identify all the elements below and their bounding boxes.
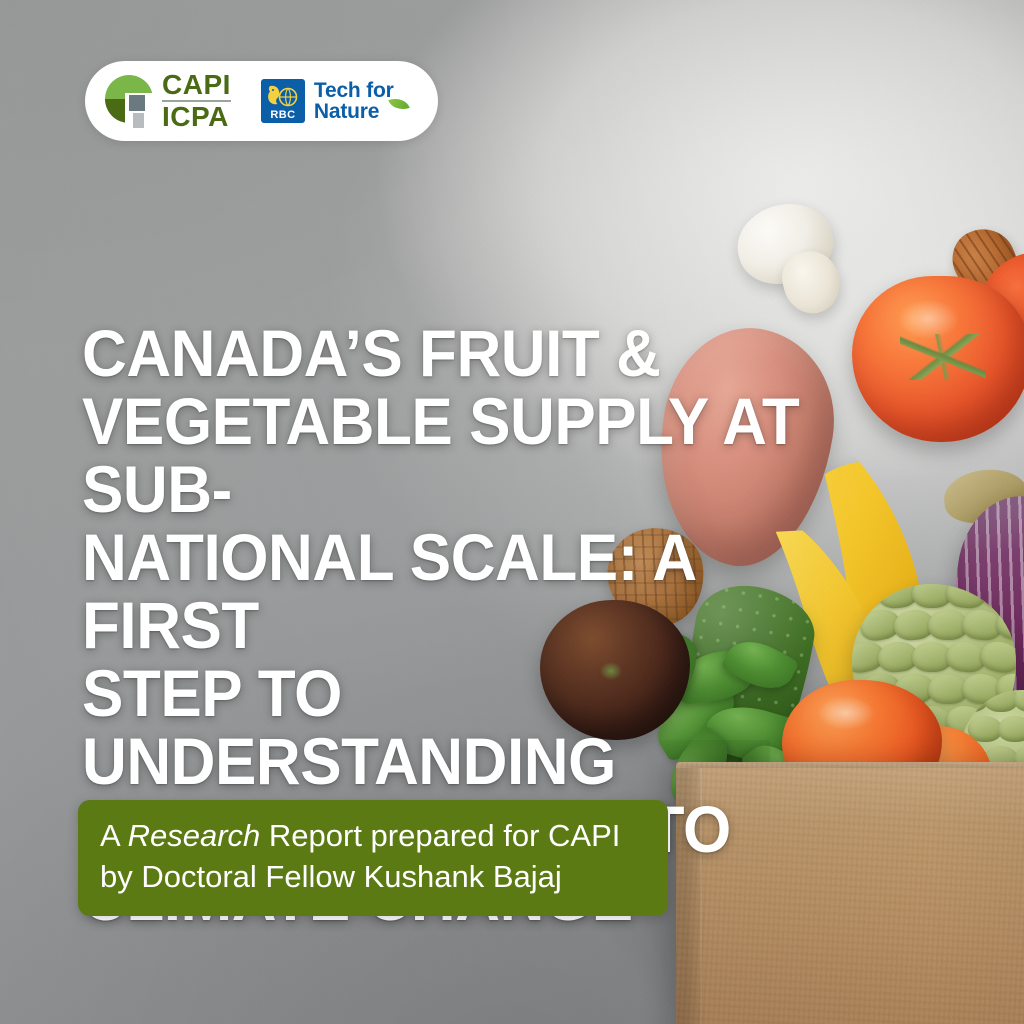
capi-line-2: ICPA xyxy=(162,104,231,130)
report-cover-poster: CAPI ICPA RBC Tech for Nature xyxy=(0,0,1024,1024)
capi-line-1: CAPI xyxy=(162,72,231,98)
capi-wordmark: CAPI ICPA xyxy=(162,72,231,130)
subtitle-line-1: A Research Report prepared for CAPI xyxy=(100,816,646,857)
subtitle-line-2: by Doctoral Fellow Kushank Bajaj xyxy=(100,857,646,898)
subtitle-italic-word: Research xyxy=(128,818,261,853)
rbc-tech-for-nature-logo[interactable]: RBC Tech for Nature xyxy=(261,79,394,123)
subtitle-prefix: A xyxy=(100,818,128,853)
nature-line: Nature xyxy=(314,101,394,122)
tech-for-line: Tech for xyxy=(314,80,394,101)
rbc-badge: RBC xyxy=(261,79,305,123)
capi-logo[interactable]: CAPI ICPA xyxy=(103,72,231,130)
subtitle-banner: A Research Report prepared for CAPI by D… xyxy=(78,800,668,916)
rbc-wordmark: RBC xyxy=(270,110,295,121)
tech-for-nature-wordmark: Tech for Nature xyxy=(314,80,394,122)
capi-circle-mark xyxy=(103,73,155,129)
subtitle-suffix: Report prepared for CAPI xyxy=(260,818,620,853)
logo-bar: CAPI ICPA RBC Tech for Nature xyxy=(85,61,438,141)
rbc-lion-globe-icon xyxy=(266,83,300,109)
